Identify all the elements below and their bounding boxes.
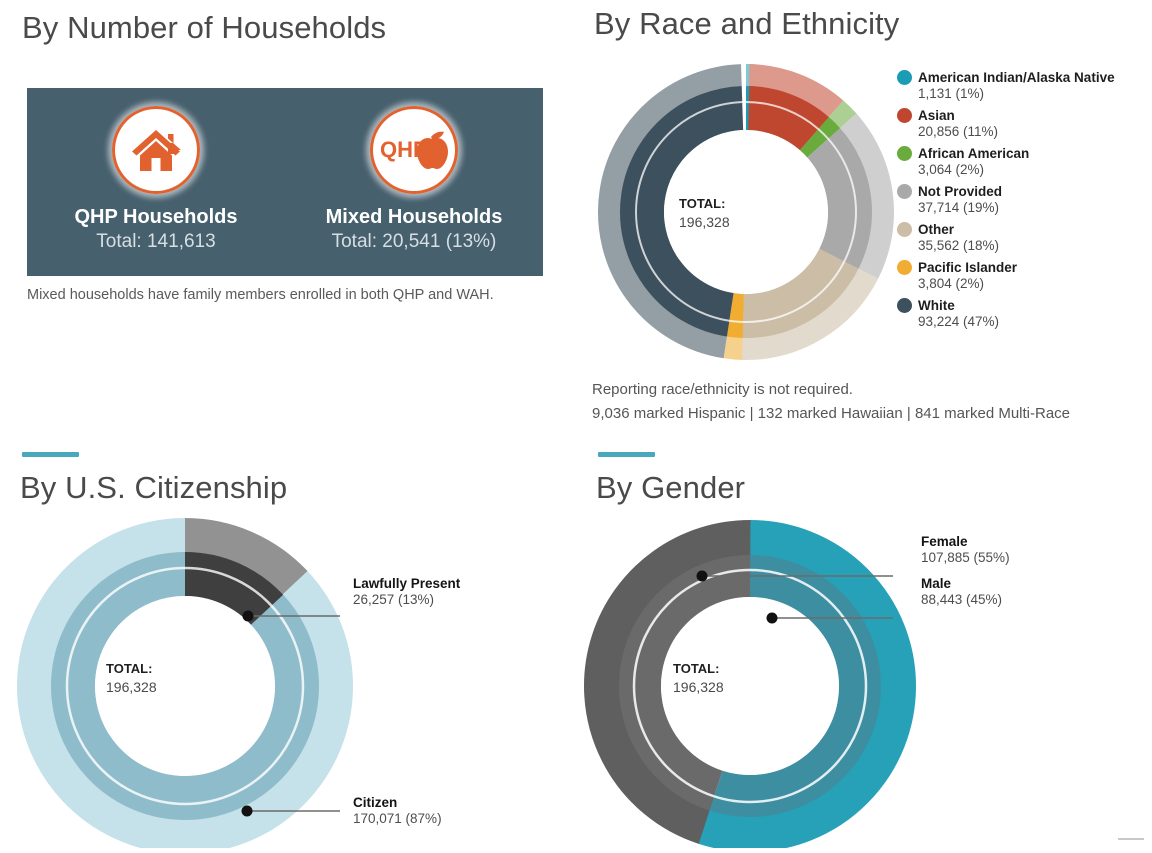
household-item-mixed: QHP Mixed Households Total: 20,541 (13%) [290, 106, 538, 253]
legend-item[interactable]: African American 3,064 (2%) [897, 146, 1149, 177]
citizenship-total-label: TOTAL: [106, 660, 157, 678]
legend-value: 93,224 (47%) [918, 314, 1149, 329]
legend-label: American Indian/Alaska Native [918, 70, 1115, 85]
citizenship-callout-citizen[interactable]: Citizen 170,071 (87%) [353, 795, 442, 826]
race-total-label: TOTAL: [679, 195, 730, 213]
page-edge-artifact [1118, 838, 1144, 840]
legend-label: Asian [918, 108, 955, 123]
gender-total-label: TOTAL: [673, 660, 724, 678]
legend-value: 3,064 (2%) [918, 162, 1149, 177]
callout-label: Female [921, 534, 1010, 549]
citizenship-accent-bar [22, 452, 79, 457]
household-label: Mixed Households [326, 206, 503, 229]
legend-item[interactable]: Not Provided 37,714 (19%) [897, 184, 1149, 215]
legend-value: 20,856 (11%) [918, 124, 1149, 139]
race-note: Reporting race/ethnicity is not required… [592, 378, 1112, 426]
svg-text:QHP: QHP [380, 137, 428, 162]
household-total: Total: 141,613 [96, 231, 215, 253]
household-item-qhp: QHP Households Total: 141,613 [32, 106, 280, 253]
race-note-line1: Reporting race/ethnicity is not required… [592, 378, 1112, 402]
household-label: QHP Households [74, 206, 237, 229]
gender-callout-male[interactable]: Male 88,443 (45%) [921, 576, 1002, 607]
citizenship-total-value: 196,328 [106, 678, 157, 697]
house-icon [112, 106, 200, 194]
race-title: By Race and Ethnicity [594, 6, 899, 42]
callout-label: Male [921, 576, 1002, 591]
legend-label: Other [918, 222, 954, 237]
legend-value: 37,714 (19%) [918, 200, 1149, 215]
race-note-line2: 9,036 marked Hispanic | 132 marked Hawai… [592, 402, 1112, 426]
gender-title: By Gender [596, 470, 745, 506]
callout-value: 107,885 (55%) [921, 550, 1010, 565]
legend-value: 1,131 (1%) [918, 86, 1149, 101]
household-total: Total: 20,541 (13%) [332, 231, 497, 253]
legend-item[interactable]: Other 35,562 (18%) [897, 222, 1149, 253]
legend-dot-icon [897, 298, 912, 313]
households-title: By Number of Households [22, 10, 386, 46]
qhp-apple-icon: QHP [370, 106, 458, 194]
legend-dot-icon [897, 260, 912, 275]
households-note: Mixed households have family members enr… [27, 285, 527, 306]
legend-dot-icon [897, 146, 912, 161]
gender-total-value: 196,328 [673, 678, 724, 697]
legend-dot-icon [897, 222, 912, 237]
legend-item[interactable]: Asian 20,856 (11%) [897, 108, 1149, 139]
gender-donut-chart: TOTAL: 196,328 [580, 518, 1080, 853]
legend-dot-icon [897, 184, 912, 199]
legend-dot-icon [897, 108, 912, 123]
callout-value: 26,257 (13%) [353, 592, 460, 607]
citizenship-callout-lawfully-present[interactable]: Lawfully Present 26,257 (13%) [353, 576, 460, 607]
callout-label: Citizen [353, 795, 442, 810]
legend-label: African American [918, 146, 1029, 161]
race-legend: American Indian/Alaska Native 1,131 (1%)… [897, 70, 1149, 336]
callout-value: 88,443 (45%) [921, 592, 1002, 607]
gender-accent-bar [598, 452, 655, 457]
callout-value: 170,071 (87%) [353, 811, 442, 826]
legend-item[interactable]: Pacific Islander 3,804 (2%) [897, 260, 1149, 291]
households-card: QHP Households Total: 141,613 QHP Mixed … [27, 88, 543, 276]
citizenship-title: By U.S. Citizenship [20, 470, 287, 506]
gender-callout-female[interactable]: Female 107,885 (55%) [921, 534, 1010, 565]
race-donut-chart: TOTAL: 196,328 [596, 52, 896, 377]
legend-dot-icon [897, 70, 912, 85]
legend-label: White [918, 298, 955, 313]
legend-item[interactable]: American Indian/Alaska Native 1,131 (1%) [897, 70, 1149, 101]
callout-label: Lawfully Present [353, 576, 460, 591]
legend-label: Not Provided [918, 184, 1002, 199]
legend-value: 3,804 (2%) [918, 276, 1149, 291]
legend-item[interactable]: White 93,224 (47%) [897, 298, 1149, 329]
race-total-value: 196,328 [679, 213, 730, 232]
legend-label: Pacific Islander [918, 260, 1017, 275]
legend-value: 35,562 (18%) [918, 238, 1149, 253]
